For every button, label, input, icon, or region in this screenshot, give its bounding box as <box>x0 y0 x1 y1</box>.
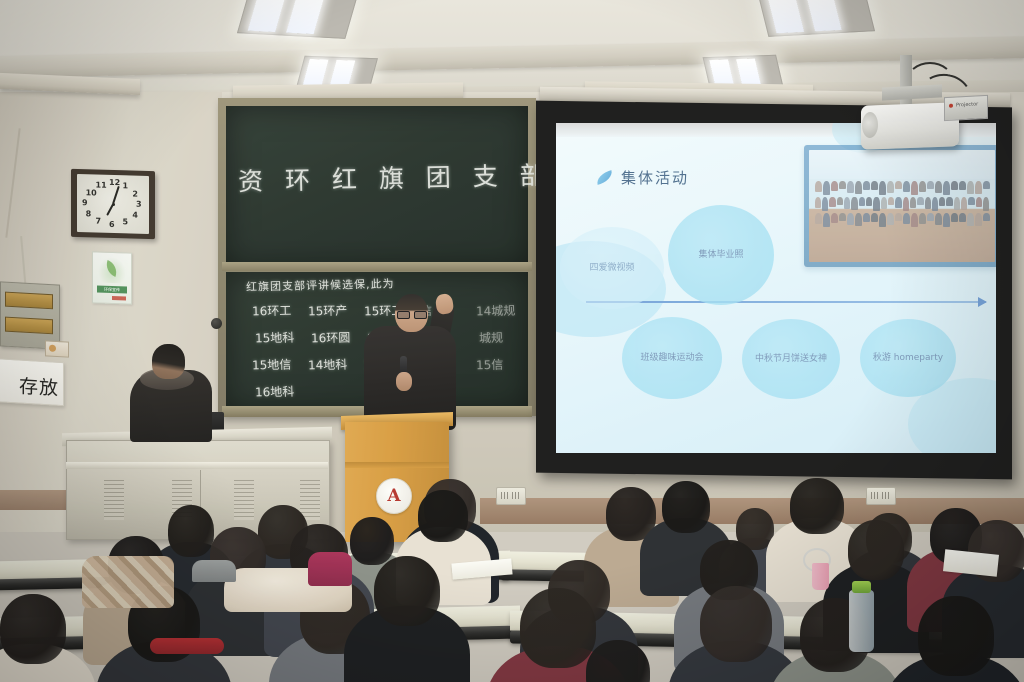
photo-crowd-row-mid <box>815 197 990 211</box>
slide-photo-card <box>804 145 996 267</box>
photo-person <box>917 197 923 205</box>
blackboard-class-code: 15环产 <box>308 302 348 320</box>
photo-person <box>887 213 894 225</box>
poster-footer-accent <box>112 296 126 300</box>
photo-person <box>919 213 926 224</box>
photo-person <box>831 213 838 223</box>
clock-face: 121234567891011 <box>77 174 149 234</box>
photo-person <box>951 181 958 190</box>
photo-person <box>975 213 982 226</box>
panel-slot-2[interactable] <box>5 317 53 335</box>
ceiling-light-3 <box>757 0 875 37</box>
photo-person <box>959 213 966 222</box>
photo-person <box>943 181 950 195</box>
photo-person <box>975 181 982 194</box>
photo-person <box>983 181 990 189</box>
glasses-icon <box>397 311 425 317</box>
photo-person <box>855 181 862 194</box>
assistant-head <box>152 344 185 379</box>
podium-emblem-letter: A <box>387 488 400 505</box>
photo-person <box>823 181 830 195</box>
slide-header: 集体活动 <box>596 167 689 188</box>
wall-clock: 121234567891011 <box>71 169 155 239</box>
photo-person <box>844 197 850 209</box>
water-bottle-cap <box>852 581 871 593</box>
audience-member-head <box>350 517 394 565</box>
photo-person <box>871 213 878 222</box>
blackboard-slider-knob[interactable] <box>211 318 222 329</box>
wall-control-panel[interactable] <box>0 281 60 349</box>
photo-person <box>943 213 950 227</box>
photo-person <box>879 213 886 227</box>
control-cabinet-lip <box>66 462 328 469</box>
plaid-bag <box>82 556 174 608</box>
blackboard-class-code: 16环圆 <box>311 329 351 347</box>
photo-person <box>895 213 902 221</box>
photo-person <box>903 181 910 192</box>
photo-person <box>839 213 846 221</box>
photo-person <box>837 197 843 205</box>
audience-member-head <box>0 594 66 664</box>
clock-numeral: 4 <box>132 211 138 219</box>
audience-member-head <box>700 586 772 662</box>
photo-person <box>911 213 918 227</box>
podium-lip <box>345 462 449 468</box>
photo-person <box>895 197 901 208</box>
photo-person <box>881 197 887 209</box>
photo-person <box>859 197 865 206</box>
photo-person <box>961 197 967 210</box>
photo-crowd-row-front <box>815 213 990 227</box>
photo-person <box>863 181 870 190</box>
clock-numeral: 3 <box>136 201 142 209</box>
blackboard-class-code: 15地信 <box>252 356 292 374</box>
leaf-icon <box>595 170 614 185</box>
audience-member-head <box>418 490 468 542</box>
pink-cup <box>812 563 829 590</box>
photo-person <box>919 181 926 192</box>
photo-person <box>910 197 916 208</box>
clock-numeral: 7 <box>96 218 102 226</box>
photo-person <box>976 197 982 207</box>
photo-person <box>927 181 934 189</box>
cabinet-vent-4 <box>300 480 320 520</box>
blackboard-class-code: 15信 <box>476 356 504 374</box>
audience-member-head <box>662 481 710 533</box>
red-collar <box>150 638 224 654</box>
photo-person <box>879 181 886 195</box>
photo-person <box>851 197 857 210</box>
photo-person <box>815 213 822 224</box>
clock-numeral: 6 <box>109 221 115 229</box>
photo-person <box>855 213 862 226</box>
photo-person <box>839 181 846 189</box>
blackboard-class-code: 14地科 <box>308 356 348 374</box>
photo-person <box>927 213 934 221</box>
cabinet-vent-1 <box>104 480 124 520</box>
photo-sky <box>809 150 995 179</box>
audience-member-head <box>848 520 904 580</box>
photo-person <box>873 197 879 211</box>
slide-timeline-arrow <box>586 301 986 303</box>
photo-person <box>829 197 835 207</box>
green-environment-poster: 环保宣传 <box>92 251 132 304</box>
photo-person <box>946 197 952 206</box>
photo-person <box>954 197 960 210</box>
audience-member-head <box>790 478 844 534</box>
clock-numeral: 11 <box>96 181 107 189</box>
presentation-slide: 集体活动 四爱微视频 集体毕业照 班级趣味运动会 中秋节月饼送女神 秋游 hom… <box>556 123 996 453</box>
photo-person <box>967 213 974 226</box>
photo-person <box>815 197 821 208</box>
photo-person <box>925 197 931 209</box>
panel-slot-1[interactable] <box>5 292 53 310</box>
clock-numeral: 10 <box>86 189 97 197</box>
storage-notice-sign: 存放 <box>0 358 64 406</box>
blackboard-chalk-rail <box>222 262 532 271</box>
photo-person <box>823 213 830 227</box>
group-graduation-photo <box>809 150 995 262</box>
photo-person <box>866 197 872 206</box>
audience-member-head <box>168 505 214 557</box>
ceiling-light-1 <box>237 0 359 39</box>
audience-member-head <box>918 596 994 676</box>
photo-person <box>887 181 894 193</box>
photo-person <box>968 197 974 205</box>
clock-numeral: 9 <box>82 199 88 207</box>
blackboard-class-code: 城规 <box>479 329 503 346</box>
photo-person <box>939 197 945 206</box>
blackboard-class-code: 15地科 <box>255 329 295 347</box>
clock-center-pin <box>112 202 115 205</box>
wall-small-card <box>45 340 69 357</box>
photo-person <box>847 213 854 225</box>
wall-outlet-right[interactable] <box>866 487 896 505</box>
photo-person <box>951 213 958 222</box>
slide-bubble-bottom-2: 中秋节月饼送女神 <box>742 319 840 399</box>
photo-person <box>888 197 894 205</box>
clock-numeral: 5 <box>123 218 129 226</box>
photo-person <box>983 213 990 221</box>
blackboard-class-code: 14城规 <box>476 302 516 320</box>
blackboard-class-code: 16地科 <box>255 383 295 401</box>
audience-member-head <box>374 556 440 626</box>
photo-person <box>863 213 870 222</box>
slide-bubble-bottom-3: 秋游 homeparty <box>860 319 956 397</box>
photo-person <box>815 181 822 192</box>
photo-person <box>983 197 989 211</box>
wall-outlet-left[interactable] <box>496 487 526 505</box>
photo-person <box>932 197 938 211</box>
classroom-scene: 121234567891011 环保宣传 存放 资 环 红 旗 团 支 部 评 … <box>0 0 1024 682</box>
presenter-hand-holding-mic <box>396 372 412 391</box>
blackboard-subline: 红旗团支部评讲候选保,此为 <box>246 275 395 294</box>
slide-bubble-top-1: 四爱微视频 <box>560 227 664 309</box>
blackboard-class-code: 16环工 <box>252 302 292 320</box>
chair-back <box>192 560 236 582</box>
photo-person <box>831 181 838 191</box>
photo-crowd-row-back <box>815 181 990 195</box>
clock-numeral: 1 <box>123 182 129 190</box>
photo-person <box>871 181 878 190</box>
audience-member-head <box>520 588 596 668</box>
slide-header-label: 集体活动 <box>621 167 689 188</box>
cabinet-vent-3 <box>234 480 254 520</box>
slide-bubble-bottom-1: 班级趣味运动会 <box>622 317 722 399</box>
photo-person <box>935 213 942 225</box>
photo-person <box>967 181 974 194</box>
photo-person <box>903 197 909 211</box>
slide-bubble-top-2: 集体毕业照 <box>668 205 774 305</box>
photo-person <box>911 181 918 195</box>
clock-numeral: 8 <box>86 210 92 218</box>
photo-person <box>935 181 942 193</box>
photo-person <box>903 213 910 224</box>
magenta-jacket <box>308 552 352 586</box>
photo-person <box>895 181 902 189</box>
poster-banner-label: 环保宣传 <box>97 286 127 292</box>
storage-notice-text: 存放 <box>19 371 59 400</box>
photo-person <box>847 181 854 193</box>
photo-person <box>959 181 966 190</box>
clock-minute-hand <box>112 186 119 204</box>
clock-numeral: 2 <box>132 190 138 198</box>
water-bottle <box>849 590 874 652</box>
photo-person <box>822 197 828 211</box>
podium-emblem: A <box>376 478 412 514</box>
